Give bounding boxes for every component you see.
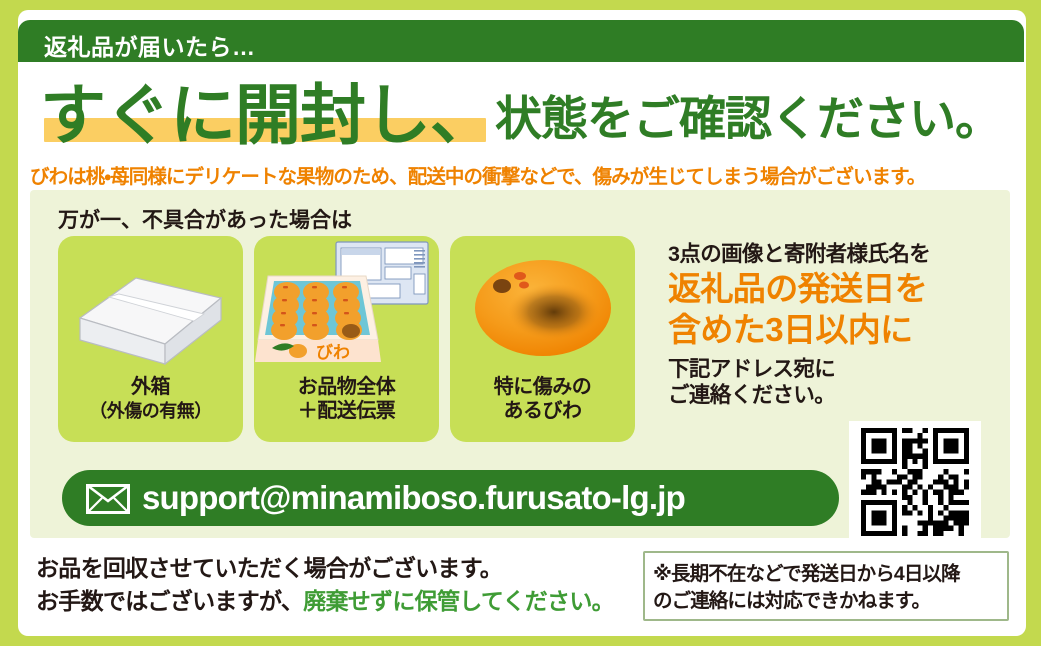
headline: すぐに開封し、 状態をご確認ください。 — [30, 66, 1020, 146]
card-label-main: 外箱 — [131, 376, 170, 398]
qr-code[interactable] — [849, 421, 981, 543]
envelope-icon — [86, 484, 130, 514]
card-whole-item: びわ お品物全体 ＋配送伝票 — [254, 236, 439, 442]
bruised-loquat-icon — [450, 236, 635, 376]
note-line-2: のご連絡には対応できかねます。 — [653, 588, 930, 614]
note-box: ※長期不在などで発送日から4日以降 のご連絡には対応できかねます。 — [643, 551, 1009, 621]
email-address: support@minamiboso.furusato-lg.jp — [142, 479, 685, 517]
header-band: 返礼品が届いたら… — [18, 20, 1024, 62]
qr-code-image — [856, 428, 974, 536]
svg-text:びわ: びわ — [316, 343, 350, 362]
headline-secondary: 状態をご確認ください。 — [495, 80, 1001, 149]
contact-small-wrap: 下記アドレス宛に ご連絡ください。 — [668, 356, 998, 408]
footer-line-2-green: 廃棄せずに保管してください。 — [303, 588, 614, 614]
note-line-1: ※長期不在などで発送日から4日以降 — [653, 561, 960, 587]
contact-emphasis-2: 含めた3日以内に — [668, 311, 998, 350]
card-label-main: お品物全体 — [298, 376, 396, 398]
warning-text: びわは桃・苺同様にデリケートな果物のため、配送中の衝撃などで、傷みが生じてしまう… — [30, 160, 1020, 189]
contact-small-2: ご連絡ください。 — [668, 382, 998, 408]
card-label-sub: ＋配送伝票 — [298, 400, 396, 422]
contact-emphasis-1: 返礼品の発送日を — [668, 270, 998, 309]
cardboard-box-icon — [58, 236, 243, 376]
email-contact-bar[interactable]: support@minamiboso.furusato-lg.jp — [62, 470, 839, 526]
contact-small-1: 下記アドレス宛に — [668, 356, 998, 382]
loquat-box-with-slip-icon: びわ — [254, 236, 439, 376]
poster-frame: 返礼品が届いたら… すぐに開封し、 状態をご確認ください。 びわは桃・苺同様にデ… — [0, 0, 1041, 646]
card-outer-box-label: 外箱 （外傷の有無） — [58, 376, 243, 423]
card-bruised-loquat: 特に傷みの あるびわ — [450, 236, 635, 442]
card-label-main: 特に傷みの — [494, 376, 592, 398]
panel-title: 万が一、不具合があった場合は — [58, 204, 352, 234]
header-title: 返礼品が届いたら… — [44, 28, 256, 62]
headline-primary: すぐに開封し、 — [40, 62, 495, 158]
card-outer-box: 外箱 （外傷の有無） — [58, 236, 243, 442]
card-whole-item-label: お品物全体 ＋配送伝票 — [254, 376, 439, 423]
card-bruised-loquat-label: 特に傷みの あるびわ — [450, 376, 635, 423]
footer-line-2-plain: お手数ではございますが、 — [36, 588, 303, 614]
footer-line-2: お手数ではございますが、廃棄せずに保管してください。 — [36, 585, 636, 618]
footer-line-1: お品を回収させていただく場合がございます。 — [36, 552, 636, 585]
card-label-sub: あるびわ — [504, 400, 582, 422]
contact-instructions: 3点の画像と寄附者様氏名を 返礼品の発送日を 含めた3日以内に 下記アドレス宛に… — [668, 242, 998, 408]
footer-notice: お品を回収させていただく場合がございます。 お手数ではございますが、廃棄せずに保… — [36, 552, 636, 617]
contact-line-1: 3点の画像と寄附者様氏名を — [668, 242, 998, 268]
card-label-sub: （外傷の有無） — [89, 401, 212, 421]
